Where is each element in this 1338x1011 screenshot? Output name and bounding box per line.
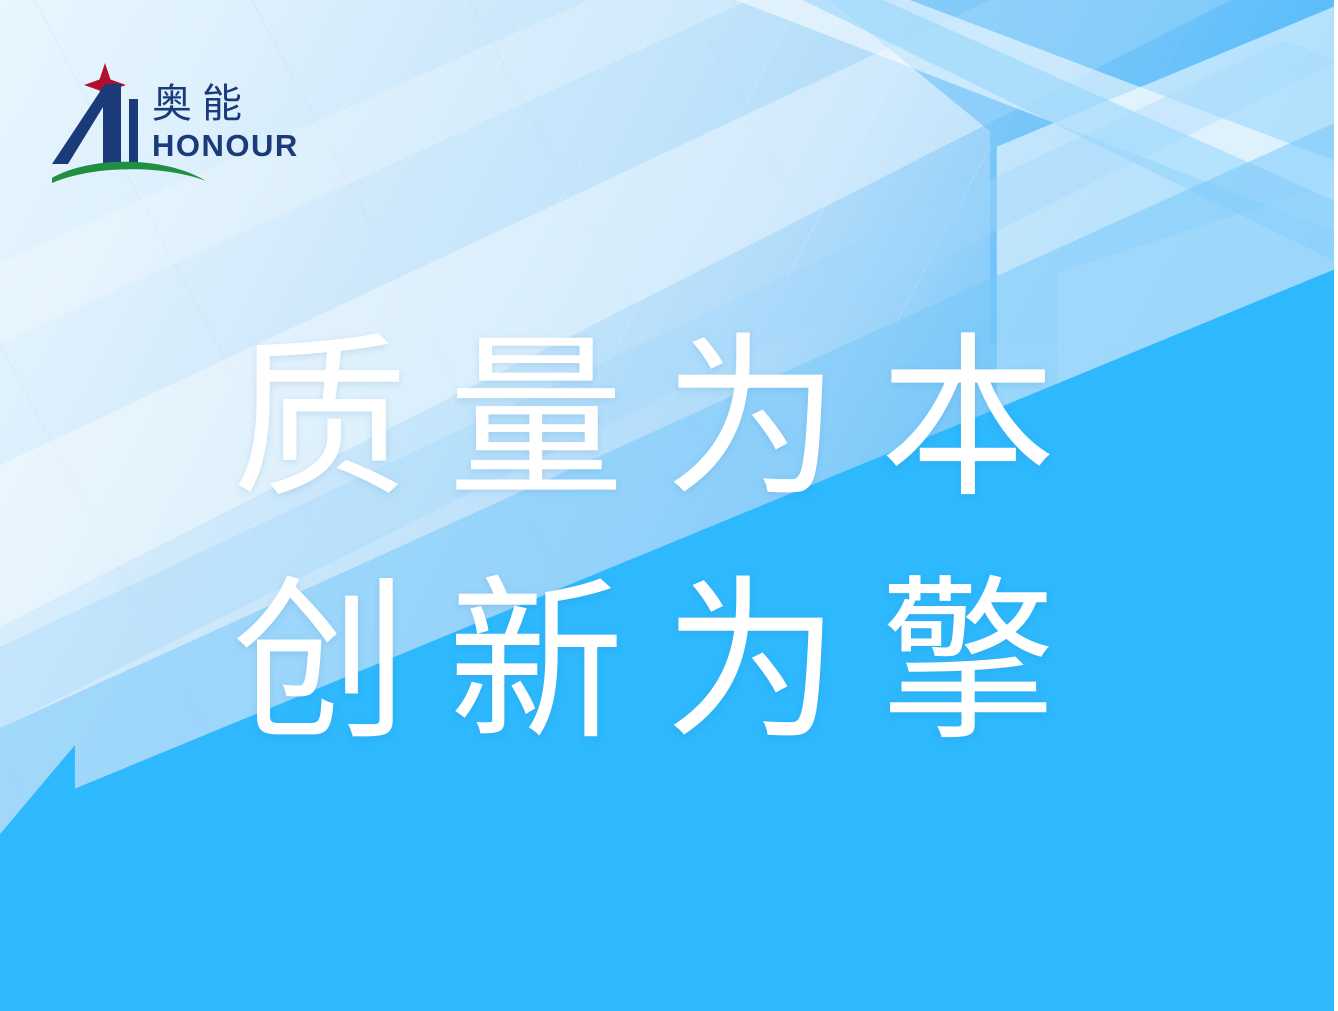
green-arc-icon (52, 162, 206, 187)
slogan-block: 质量为本 创新为擎 (232, 306, 1132, 778)
slogan-line-2: 创新为擎 (232, 549, 1132, 778)
mountain-a-mark-icon (52, 84, 121, 164)
mark-bar-icon (129, 99, 138, 164)
background-right-edge-strip (1334, 0, 1338, 1011)
logo-latin-name: HONOUR (152, 128, 299, 163)
brand-logo: 奥能 HONOUR (52, 55, 314, 195)
slogan-line-1: 质量为本 (232, 306, 1132, 535)
poster-canvas: 奥能 HONOUR 质量为本 创新为擎 (0, 0, 1338, 1011)
logo-chinese-name: 奥能 (152, 81, 252, 127)
